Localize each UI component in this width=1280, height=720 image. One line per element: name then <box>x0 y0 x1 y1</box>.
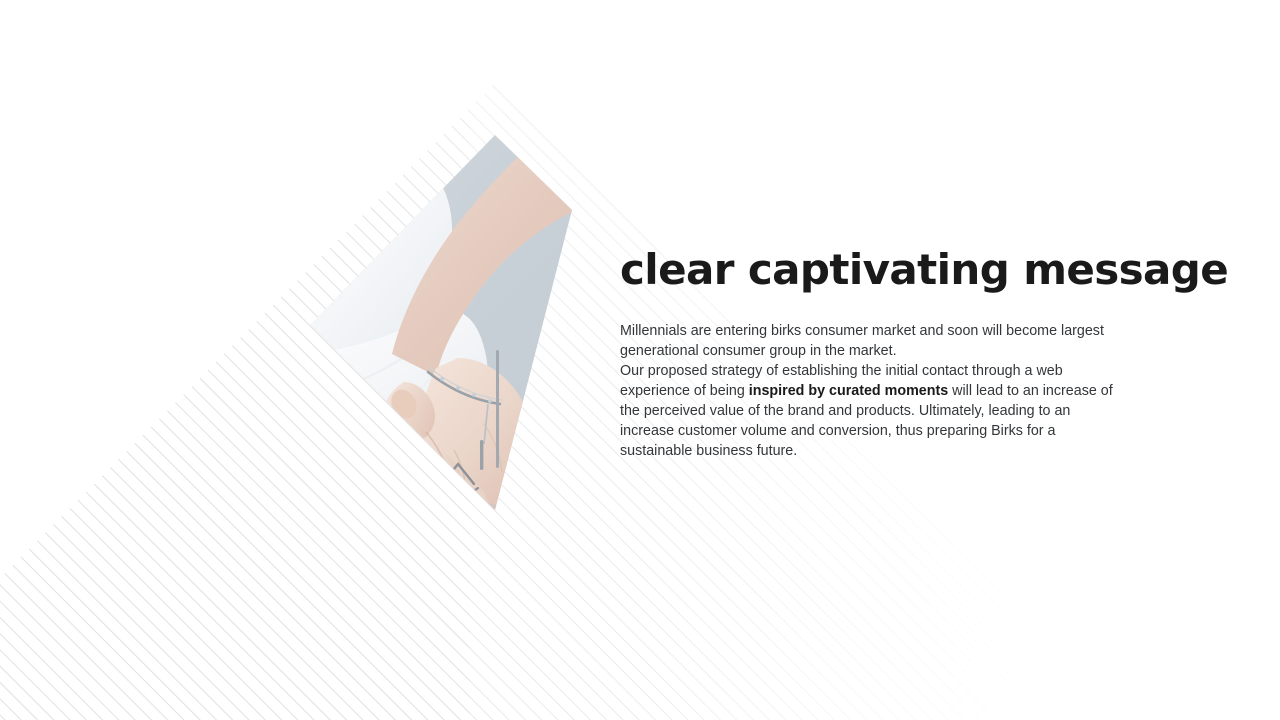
body-paragraph-2-emphasis: inspired by curated moments <box>749 383 948 399</box>
hand-with-bracelet-photo <box>308 132 576 514</box>
vertical-bar-jewelry <box>496 350 499 468</box>
slide-canvas: clear captivating message Millennials ar… <box>0 0 1280 720</box>
text-content-block: clear captivating message Millennials ar… <box>620 247 1180 461</box>
page-title: clear captivating message <box>620 247 1180 292</box>
body-paragraph-2: Our proposed strategy of establishing th… <box>620 361 1120 461</box>
body-paragraph-1: Millennials are entering birks consumer … <box>620 321 1120 361</box>
photo-svg <box>308 132 576 514</box>
bar-pendant <box>480 440 483 470</box>
body-copy: Millennials are entering birks consumer … <box>620 292 1120 461</box>
